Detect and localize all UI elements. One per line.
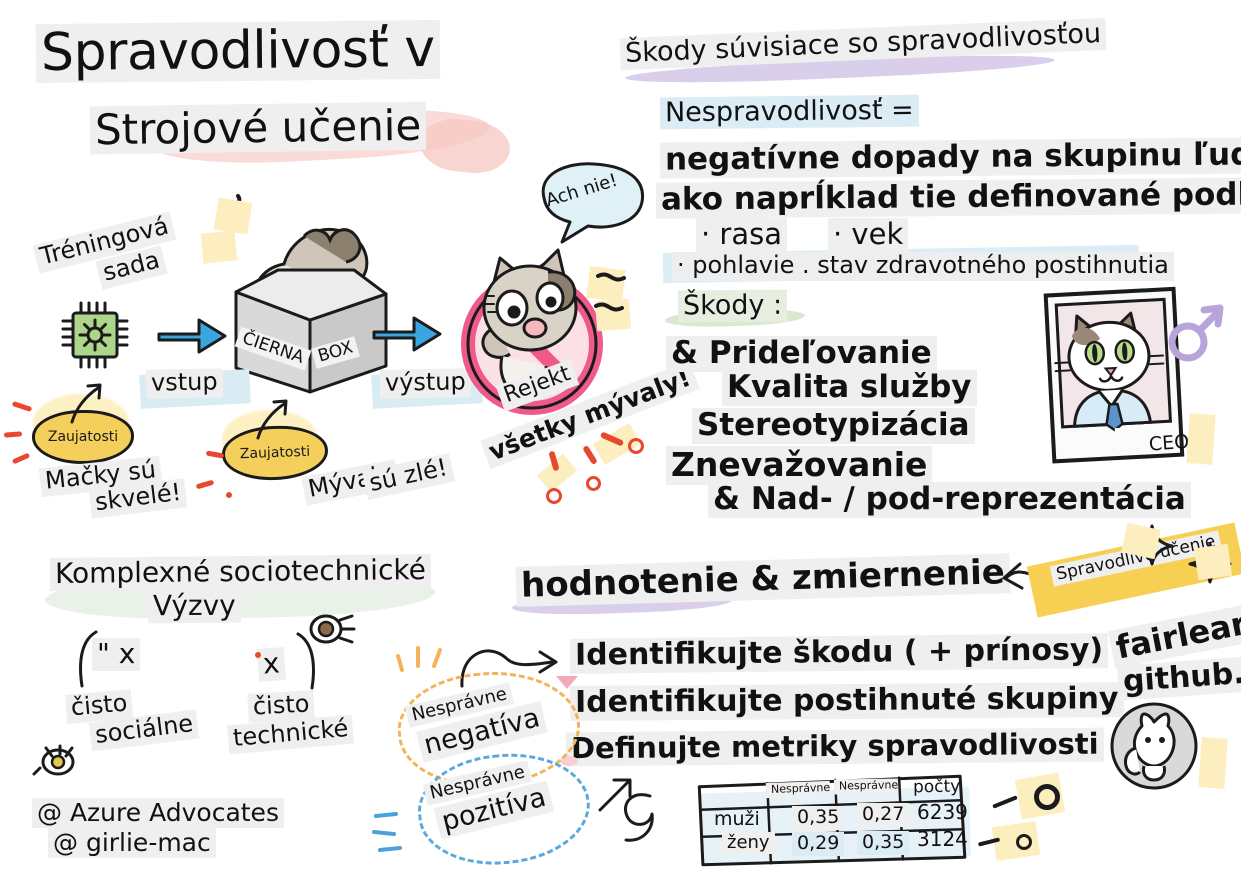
eye-icon-2 xyxy=(34,744,82,778)
spark-dash-2 xyxy=(4,431,22,437)
unfairness-label: Nespravodlivosť = xyxy=(660,95,919,130)
x-mark-red-dot xyxy=(255,652,261,658)
challenge-right-mark: x xyxy=(257,647,286,682)
pink-marker-1 xyxy=(556,676,578,689)
spark-dash-6 xyxy=(226,492,232,498)
note-doodle-stroke-1 xyxy=(992,795,1018,808)
harms-definition-line1: negatívne dopady na skupinu ľudí xyxy=(660,137,1241,179)
microchip-icon xyxy=(56,296,134,374)
table-cell-men-false-positive: 0,27 xyxy=(857,803,909,827)
orange-sparks-icon xyxy=(396,640,452,680)
harms-list-heading: Škody : xyxy=(678,290,787,323)
arrow-output-icon xyxy=(370,308,446,354)
input-label: vstup xyxy=(146,368,223,398)
github-octocat-icon xyxy=(1108,700,1200,792)
sticky-note-right xyxy=(1186,413,1215,465)
harms-attribute-gender-disability: · pohlavie . stav zdravotného postihnuti… xyxy=(672,252,1174,281)
exclaim-dot-2 xyxy=(546,488,562,504)
harms-definition-line2: ako naprĺklad tie definované podľa xyxy=(656,177,1241,219)
page-title-line2: Strojové učenie xyxy=(90,102,427,155)
raccoon-note-line2: sú zlé! xyxy=(362,453,455,500)
spark-dash-5 xyxy=(196,480,215,490)
bias-left-label: Zaujatosti xyxy=(48,429,118,445)
harm-item-denigration: Znevažovanie xyxy=(666,446,932,485)
challenges-heading-line2: Výzvy xyxy=(148,590,241,624)
bias-right-arrow-icon xyxy=(252,396,294,440)
table-cell-women-false-negative: 0,29 xyxy=(792,832,844,856)
sketchnote-canvas: Spravodlivosť v Strojové učenie Tréningo… xyxy=(0,0,1241,875)
table-cell-women-count: 3124 xyxy=(912,828,973,853)
sticky-note-bottom-right xyxy=(1198,737,1227,789)
challenges-heading-line1: Komplexné sociotechnické xyxy=(50,554,431,591)
sparkle-bg-2 xyxy=(1194,544,1232,580)
eye-icon xyxy=(306,612,354,646)
male-symbol-icon xyxy=(1168,300,1226,364)
challenge-right-label-line2: technické xyxy=(227,715,355,755)
exclaim-dot-1 xyxy=(628,438,644,454)
harm-item-representation: & Nad- / pod-reprezentácia xyxy=(708,482,1191,518)
evaluation-step-2: Identifikujte postihnuté skupiny xyxy=(570,682,1124,721)
table-header-counts: počty xyxy=(908,777,966,799)
table-cell-women-false-positive: 0,35 xyxy=(857,831,909,855)
note-doodle-ring-2 xyxy=(1016,834,1032,850)
harm-item-stereotyping: Stereotypizácia xyxy=(692,408,975,444)
challenge-left-mark: " x xyxy=(92,638,140,671)
bias-right-label: Zaujatosti xyxy=(240,444,311,462)
harm-item-quality-of-service: Kvalita služby xyxy=(722,370,977,406)
squiggle-doodle-2 xyxy=(588,262,640,336)
sparkle-note-1 xyxy=(214,198,253,235)
harms-attribute-age: · vek xyxy=(828,218,908,252)
evaluation-step-3: Definujte metriky spravodlivosti xyxy=(566,728,1104,767)
note-doodle-ring-1 xyxy=(1034,784,1060,810)
evaluation-step-1: Identifikujte škodu ( + prínosy) xyxy=(570,633,1109,674)
title-swash-pink-2 xyxy=(418,115,513,176)
table-pointer-arrow-icon xyxy=(594,772,638,816)
exclaim-dot-3 xyxy=(586,476,601,491)
spark-dash-1 xyxy=(12,401,33,412)
evaluation-heading: hodnotenie & zmiernenie xyxy=(516,553,1011,606)
bias-left-arrow-icon xyxy=(66,380,108,424)
table-header-false-positive: Nesprávne-pozitíva xyxy=(834,778,898,794)
page-title-line1: Spravodlivosť v xyxy=(36,20,440,83)
harms-attribute-race: · rasa xyxy=(696,218,787,252)
table-row-label-men: muži xyxy=(709,808,765,832)
credit-line2: @ girlie-mac xyxy=(48,828,216,858)
spark-dash-3 xyxy=(12,453,30,465)
sparkle-note-2 xyxy=(201,230,238,263)
credit-line1: @ Azure Advocates xyxy=(32,798,284,828)
table-cell-men-false-negative: 0,35 xyxy=(792,806,844,830)
table-cell-men-count: 6239 xyxy=(912,801,973,826)
table-row-label-women: ženy xyxy=(722,832,775,854)
harm-item-allocation: & Prideľovanie xyxy=(666,336,937,372)
exclaim-doodle-bg-2 xyxy=(537,454,577,493)
table-header-false-negative: Nesprávne-negatíva xyxy=(766,781,830,798)
blue-wave-doodle xyxy=(370,804,426,860)
